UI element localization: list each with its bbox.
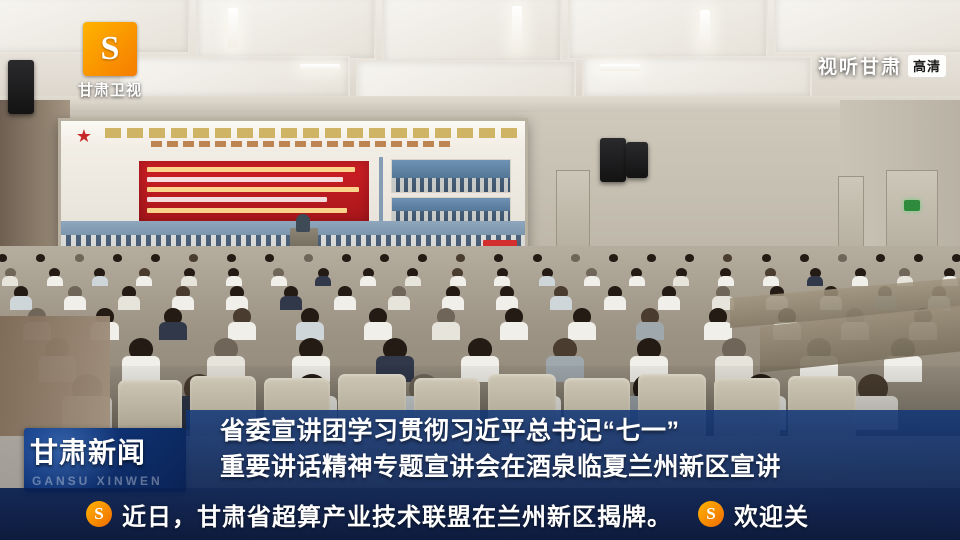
ticker-logo-letter: S [698,501,724,527]
loudspeaker [8,60,34,114]
channel-name: 甘肃卫视 [62,79,158,100]
headline-banner: 省委宣讲团学习贯彻习近平总书记“七一” 重要讲话精神专题宣讲会在酒泉临夏兰州新区… [186,410,960,488]
headline-line-1: 省委宣讲团学习贯彻习近平总书记“七一” [220,413,946,449]
ticker-item-2: 欢迎关 [734,497,809,532]
presenter [296,214,310,232]
news-ticker: S 近日，甘肃省超算产业技术联盟在兰州新区揭牌。 S 欢迎关 [0,488,960,540]
exit-sign [904,200,920,211]
led-red-banner [139,161,369,223]
led-subtitle-text [151,141,451,147]
party-emblem-icon: ★ [73,126,95,146]
audience-area [0,246,960,436]
ticker-logo-icon: S [86,501,112,527]
channel-logo-letter: S [83,22,137,76]
program-title-cn: 甘肃新闻 [30,431,146,471]
top-right-branding: 视听甘肃 高清 [818,52,946,79]
led-title-text [105,128,517,138]
ticker-item-1: 近日，甘肃省超算产业技术联盟在兰州新区揭牌。 [122,497,672,532]
ceiling-panel [774,0,960,54]
service-name: 视听甘肃 [818,52,902,79]
headline-line-2: 重要讲话精神专题宣讲会在酒泉临夏兰州新区宣讲 [220,449,946,485]
ceiling-panel [382,0,562,64]
ceiling-light [300,64,340,71]
ceiling-light [228,8,238,48]
aisle [0,316,110,436]
program-title-pinyin: GANSU XINWEN [32,474,163,488]
ceiling-panel [568,0,768,60]
program-logo: 甘肃新闻 GANSU XINWEN [24,428,186,492]
ceiling-panel [582,56,812,98]
ceiling-panel [196,0,376,60]
ceiling-light [512,6,522,50]
led-photo [391,159,511,193]
ceiling-light [700,10,710,48]
ceiling-light [600,64,640,71]
broadcast-screenshot: ★ [0,0,960,540]
led-photo [391,197,511,223]
loudspeaker [626,142,648,178]
channel-watermark: S 甘肃卫视 [62,22,158,94]
ticker-logo-letter: S [86,501,112,527]
loudspeaker [600,138,626,182]
quality-badge: 高清 [908,55,946,77]
ticker-logo-icon: S [698,501,724,527]
channel-logo-icon: S [83,22,137,76]
